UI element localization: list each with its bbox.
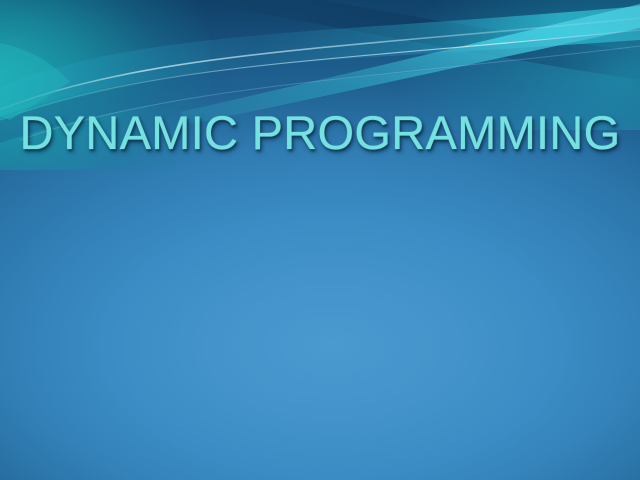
- presentation-slide: DYNAMIC PROGRAMMING: [0, 0, 640, 480]
- slide-title: DYNAMIC PROGRAMMING: [19, 108, 620, 158]
- title-placeholder: DYNAMIC PROGRAMMING: [0, 108, 640, 158]
